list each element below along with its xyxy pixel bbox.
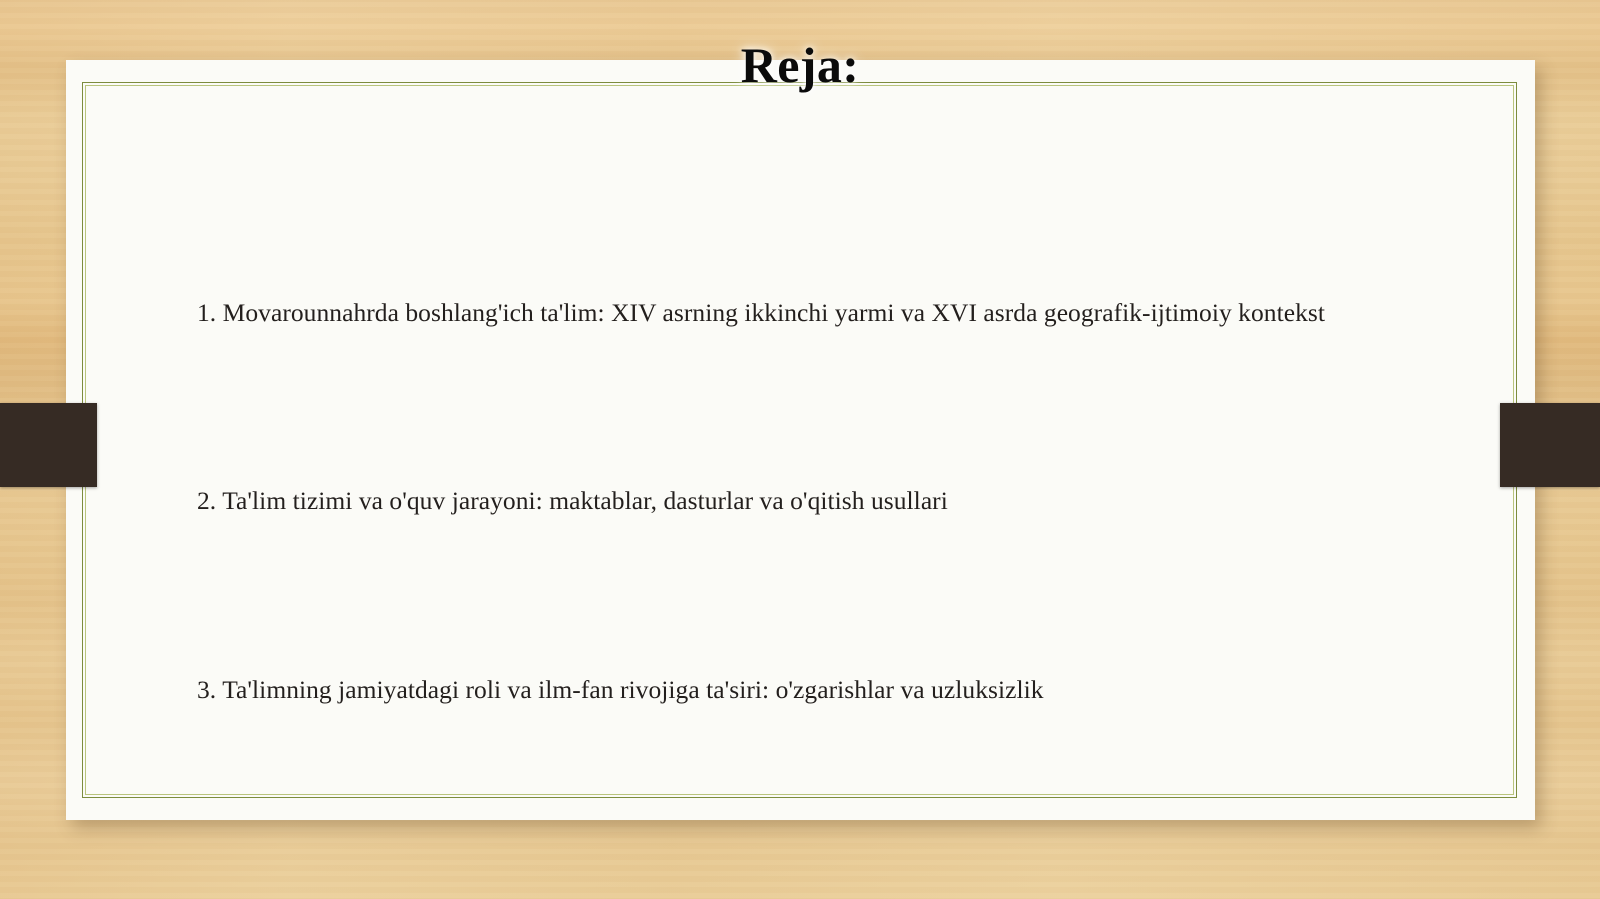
- plan-list-item-1: 1. Movarounnahrda boshlang'ich ta'lim: X…: [197, 296, 1487, 330]
- slide-content-card: 1. Movarounnahrda boshlang'ich ta'lim: X…: [66, 60, 1535, 820]
- plan-list: 1. Movarounnahrda boshlang'ich ta'lim: X…: [197, 296, 1487, 707]
- right-accent-bar: [1500, 403, 1600, 487]
- plan-list-item-3: 3. Ta'limning jamiyatdagi roli va ilm-fa…: [197, 673, 1487, 707]
- left-accent-bar: [0, 403, 97, 487]
- presentation-slide: 1. Movarounnahrda boshlang'ich ta'lim: X…: [0, 0, 1600, 899]
- page-title: Reja:: [0, 38, 1600, 93]
- plan-list-item-2: 2. Ta'lim tizimi va o'quv jarayoni: makt…: [197, 484, 1487, 518]
